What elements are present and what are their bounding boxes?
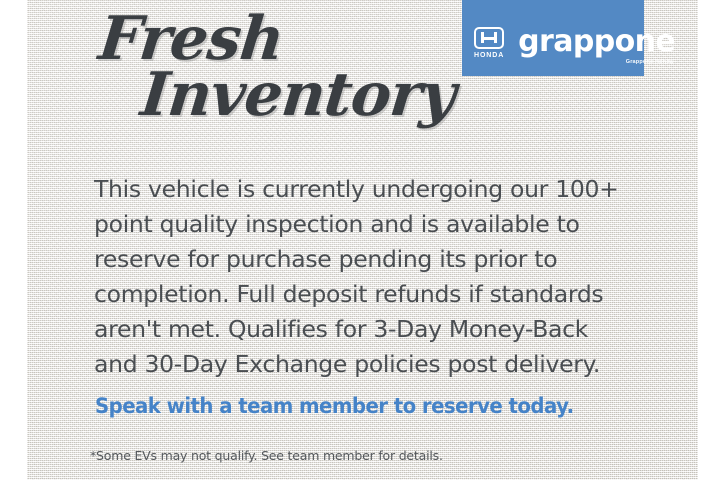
grappone-logo: grappone Grappone Honda [518, 26, 675, 58]
grappone-subtext: Grappone Honda [626, 59, 673, 65]
left-white-margin [0, 0, 27, 480]
grappone-wordmark: grappone [518, 26, 675, 58]
body-paragraph: This vehicle is currently undergoing our… [94, 172, 634, 382]
honda-h-icon [474, 27, 504, 49]
right-white-margin [698, 0, 720, 480]
body-copy: This vehicle is currently undergoing our… [94, 172, 634, 382]
disclaimer-text: *Some EVs may not qualify. See team memb… [90, 448, 630, 463]
honda-h-crossbar [481, 37, 497, 40]
honda-emblem: HONDA [474, 27, 504, 60]
honda-wordmark: HONDA [474, 51, 504, 60]
dealer-logo-block[interactable]: HONDA grappone Grappone Honda [462, 0, 644, 76]
cta-text[interactable]: Speak with a team member to reserve toda… [95, 394, 603, 418]
promo-card: HONDA grappone Grappone Honda Fresh Inve… [0, 0, 720, 480]
